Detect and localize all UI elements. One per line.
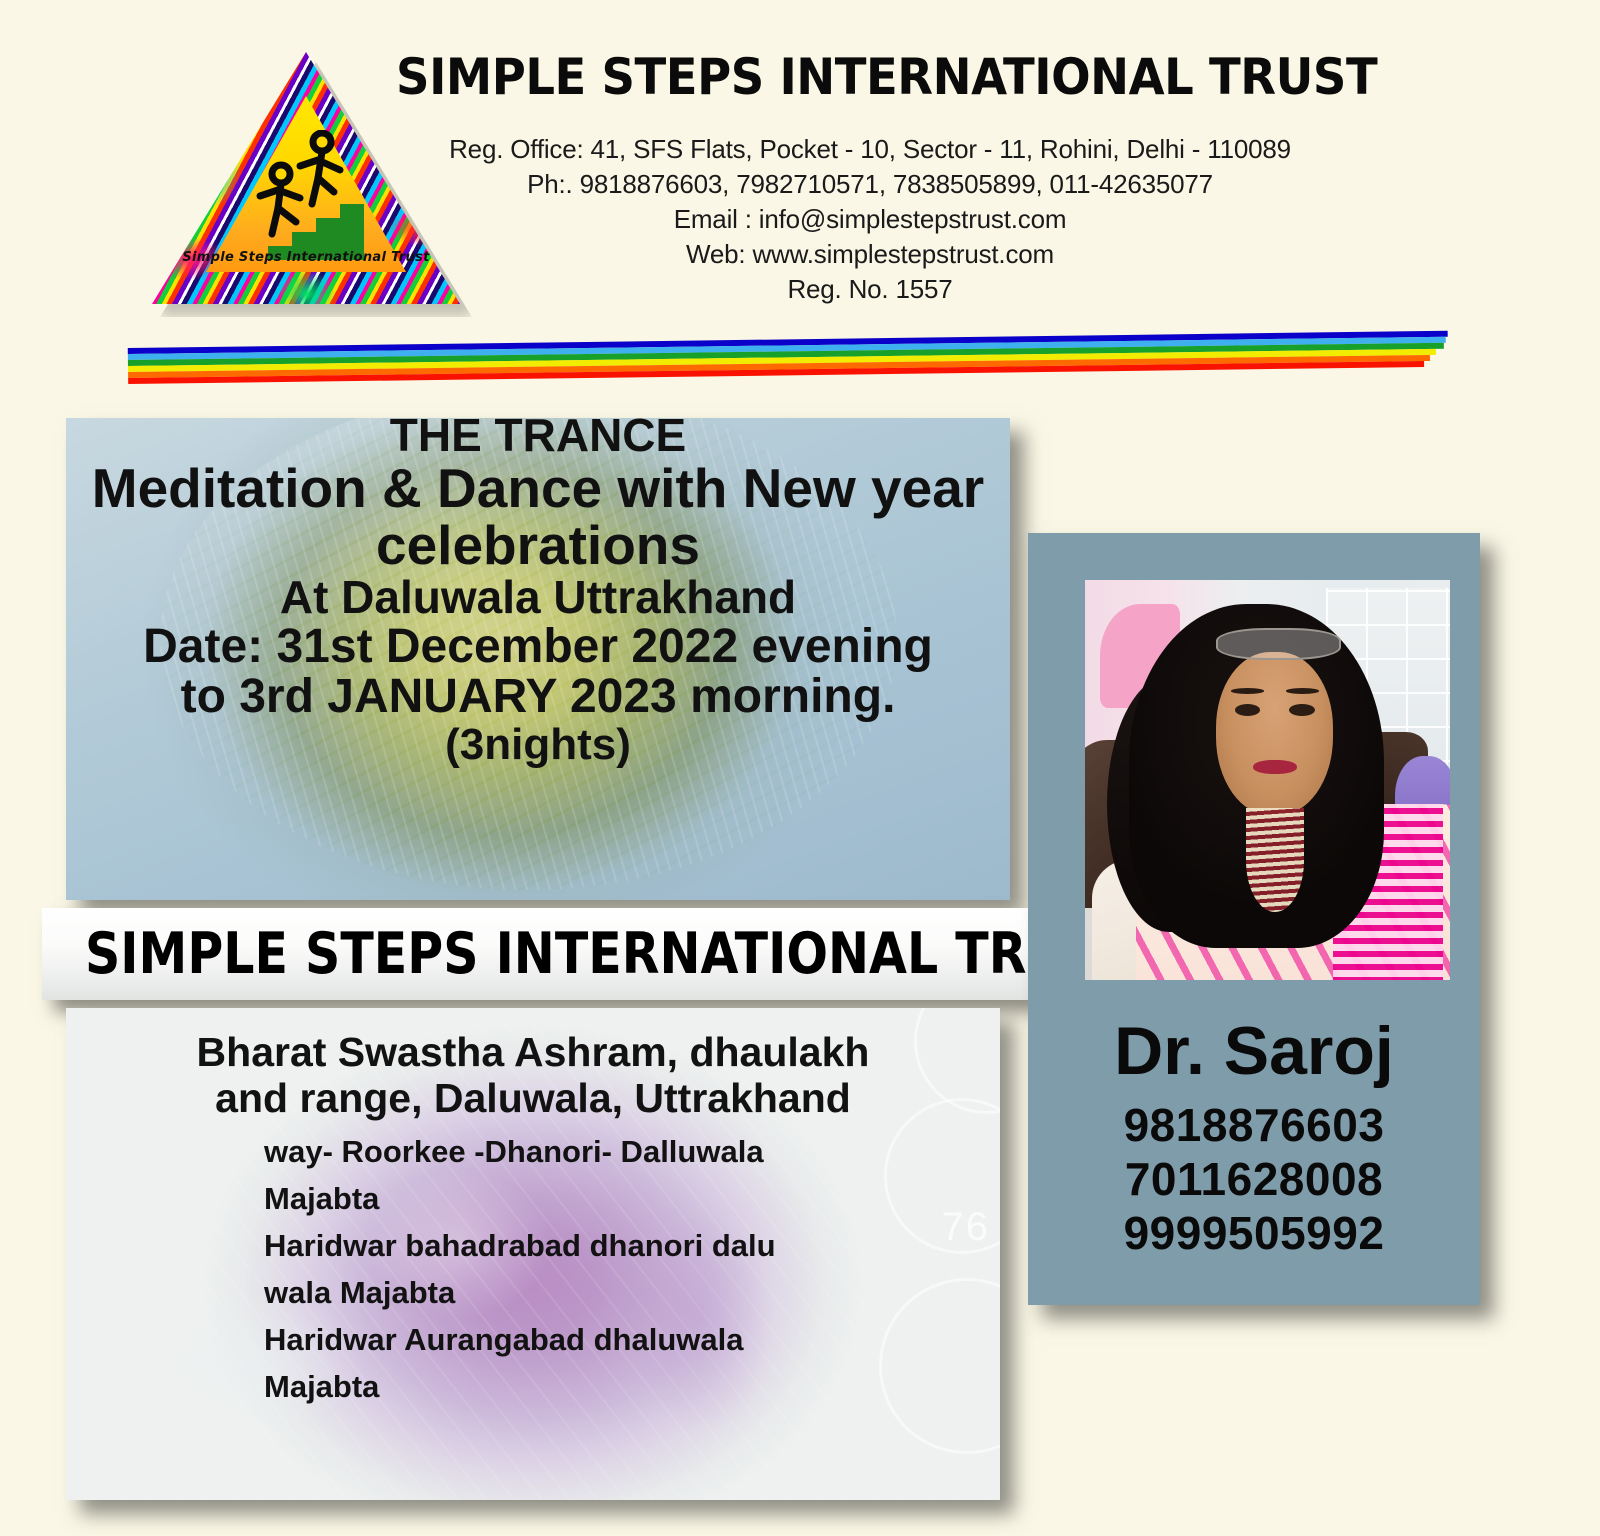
photo-necklace <box>1246 808 1304 912</box>
photo-eyebrow-right <box>1286 688 1319 694</box>
route-line-4: wala Majabta <box>264 1269 1000 1316</box>
venue-details-text: Bharat Swastha Ashram, dhaulakh and rang… <box>66 1030 1000 1410</box>
event-subtitle-2: celebrations <box>66 517 1010 574</box>
email-line: Email : info@simplestepstrust.com <box>340 202 1400 237</box>
web-line: Web: www.simplestepstrust.com <box>340 237 1400 272</box>
photo-face <box>1216 652 1333 816</box>
letterhead: Simple Steps International Trust SIMPLE … <box>0 0 1600 340</box>
route-line-2: Majabta <box>264 1175 1000 1222</box>
event-date-end: to 3rd JANUARY 2023 morning. <box>66 672 1010 722</box>
venue-heading-line-1: Bharat Swastha Ashram, dhaulakh <box>66 1030 1000 1076</box>
contact-phone-3[interactable]: 9999505992 <box>1028 1207 1480 1261</box>
venue-heading-line-2: and range, Daluwala, Uttrakhand <box>66 1076 1000 1122</box>
photo-eye-left <box>1235 704 1261 716</box>
route-line-6: Majabta <box>264 1363 1000 1410</box>
contact-person-phones: 9818876603 7011628008 9999505992 <box>1028 1099 1480 1260</box>
photo-eye-right <box>1289 704 1315 716</box>
event-details-text: THE TRANCE Meditation & Dance with New y… <box>66 418 1010 768</box>
event-poster-top: THE TRANCE Meditation & Dance with New y… <box>66 418 1010 900</box>
banner-text: SIMPLE STEPS INTERNATIONAL TRUST <box>42 921 1030 987</box>
route-line-3: Haridwar bahadrabad dhanori dalu <box>264 1222 1000 1269</box>
event-subtitle-1: Meditation & Dance with New year <box>66 460 1010 517</box>
route-line-1: way- Roorkee -Dhanori- Dalluwala <box>264 1128 1000 1175</box>
venue-poster-bottom: 76 Bharat Swastha Ashram, dhaulakh and r… <box>66 1008 1000 1500</box>
photo-eyebrow-left <box>1231 688 1264 694</box>
photo-glasses <box>1216 628 1340 660</box>
route-line-5: Haridwar Aurangabad dhaluwala <box>264 1316 1000 1363</box>
reg-no-line: Reg. No. 1557 <box>340 272 1400 307</box>
event-title: THE TRANCE <box>66 418 1010 460</box>
contact-phone-2[interactable]: 7011628008 <box>1028 1153 1480 1207</box>
reg-office-line: Reg. Office: 41, SFS Flats, Pocket - 10,… <box>340 132 1400 167</box>
contact-person-panel: Dr. Saroj 9818876603 7011628008 99995059… <box>1028 533 1480 1305</box>
route-block: way- Roorkee -Dhanori- Dalluwala Majabta… <box>66 1128 1000 1411</box>
org-contact-block: Reg. Office: 41, SFS Flats, Pocket - 10,… <box>340 132 1400 307</box>
org-title: SIMPLE STEPS INTERNATIONAL TRUST <box>396 48 1354 106</box>
event-duration: (3nights) <box>66 722 1010 768</box>
event-location: At Daluwala Uttrakhand <box>66 574 1010 622</box>
avatar <box>1085 580 1450 980</box>
contact-person-name: Dr. Saroj <box>1028 1017 1480 1085</box>
trust-name-banner: SIMPLE STEPS INTERNATIONAL TRUST <box>42 908 1030 1000</box>
event-date-start: Date: 31st December 2022 evening <box>66 622 1010 672</box>
phone-line: Ph:. 9818876603, 7982710571, 7838505899,… <box>340 167 1400 202</box>
photo-lips <box>1253 760 1297 774</box>
contact-phone-1[interactable]: 9818876603 <box>1028 1099 1480 1153</box>
